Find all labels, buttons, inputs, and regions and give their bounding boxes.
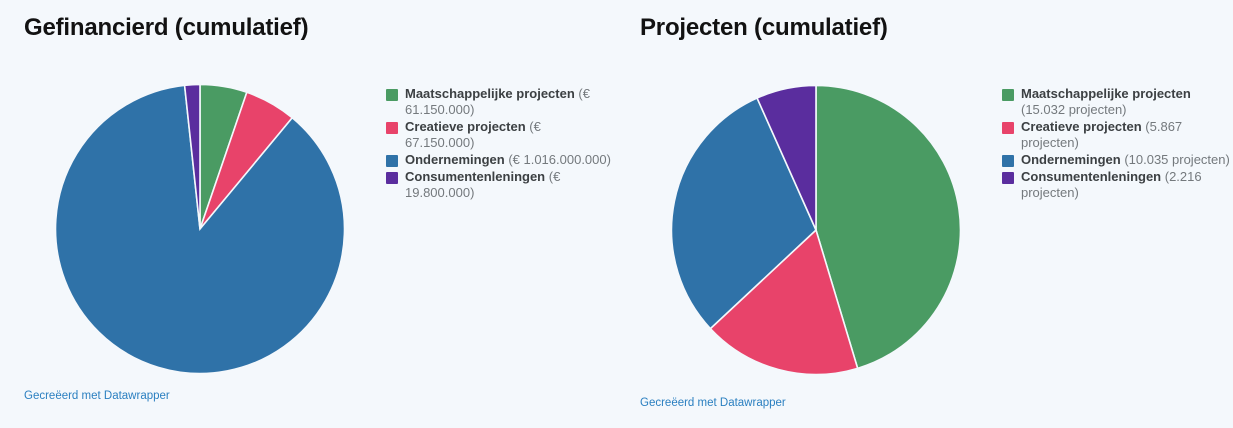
legend-item[interactable]: Consumentenleningen (€ 19.800.000) (386, 169, 612, 201)
datawrapper-credit-link[interactable]: Gecreëerd met Datawrapper (24, 390, 170, 402)
legend-item[interactable]: Ondernemingen (€ 1.016.000.000) (386, 152, 612, 168)
legend-text: Ondernemingen (€ 1.016.000.000) (405, 152, 611, 168)
legend-item[interactable]: Creatieve projecten (€ 67.150.000) (386, 119, 612, 151)
legend-text: Consumentenleningen (€ 19.800.000) (405, 169, 612, 201)
legend-swatch-consumentenleningen (1002, 172, 1014, 184)
legend-text: Creatieve projecten (€ 67.150.000) (405, 119, 612, 151)
legend-label: Creatieve projecten (405, 119, 526, 134)
dashboard-root: Gefinancierd (cumulatief) Maatschappelij… (0, 0, 1233, 428)
legend-label: Maatschappelijke projecten (405, 86, 575, 101)
legend-projecten: Maatschappelijke projecten (15.032 proje… (1002, 86, 1232, 202)
legend-swatch-creatieve (386, 122, 398, 134)
pie-chart-projecten (671, 85, 961, 375)
legend-text: Maatschappelijke projecten (15.032 proje… (1021, 86, 1232, 118)
legend-gefinancierd: Maatschappelijke projecten (€ 61.150.000… (386, 86, 612, 202)
legend-value: (10.035 projecten) (1124, 152, 1230, 167)
page-title: Gefinancierd (cumulatief) (24, 14, 308, 42)
legend-item[interactable]: Maatschappelijke projecten (€ 61.150.000… (386, 86, 612, 118)
legend-label: Creatieve projecten (1021, 119, 1142, 134)
legend-label: Consumentenleningen (405, 169, 545, 184)
legend-text: Ondernemingen (10.035 projecten) (1021, 152, 1230, 168)
legend-swatch-maatschappelijke (386, 89, 398, 101)
chart-panel-gefinancierd: Gefinancierd (cumulatief) Maatschappelij… (0, 0, 616, 428)
legend-swatch-consumentenleningen (386, 172, 398, 184)
legend-item[interactable]: Creatieve projecten (5.867 projecten) (1002, 119, 1232, 151)
legend-label: Ondernemingen (1021, 152, 1121, 167)
legend-value: (15.032 projecten) (1021, 102, 1127, 117)
legend-item[interactable]: Consumentenleningen (2.216 projecten) (1002, 169, 1232, 201)
legend-swatch-maatschappelijke (1002, 89, 1014, 101)
pie-svg-projecten (671, 85, 961, 375)
legend-item[interactable]: Maatschappelijke projecten (15.032 proje… (1002, 86, 1232, 118)
legend-label: Consumentenleningen (1021, 169, 1161, 184)
datawrapper-credit-link[interactable]: Gecreëerd met Datawrapper (640, 397, 786, 409)
legend-value: (€ 1.016.000.000) (508, 152, 611, 167)
legend-item[interactable]: Ondernemingen (10.035 projecten) (1002, 152, 1232, 168)
legend-swatch-ondernemingen (1002, 155, 1014, 167)
legend-swatch-creatieve (1002, 122, 1014, 134)
legend-swatch-ondernemingen (386, 155, 398, 167)
page-title: Projecten (cumulatief) (640, 14, 888, 42)
chart-panel-projecten: Projecten (cumulatief) Maatschappelijke … (616, 0, 1232, 428)
legend-label: Maatschappelijke projecten (1021, 86, 1191, 101)
pie-chart-gefinancierd (55, 84, 345, 374)
pie-svg-gefinancierd (55, 84, 345, 374)
legend-label: Ondernemingen (405, 152, 505, 167)
legend-text: Consumentenleningen (2.216 projecten) (1021, 169, 1232, 201)
legend-text: Creatieve projecten (5.867 projecten) (1021, 119, 1232, 151)
legend-text: Maatschappelijke projecten (€ 61.150.000… (405, 86, 612, 118)
